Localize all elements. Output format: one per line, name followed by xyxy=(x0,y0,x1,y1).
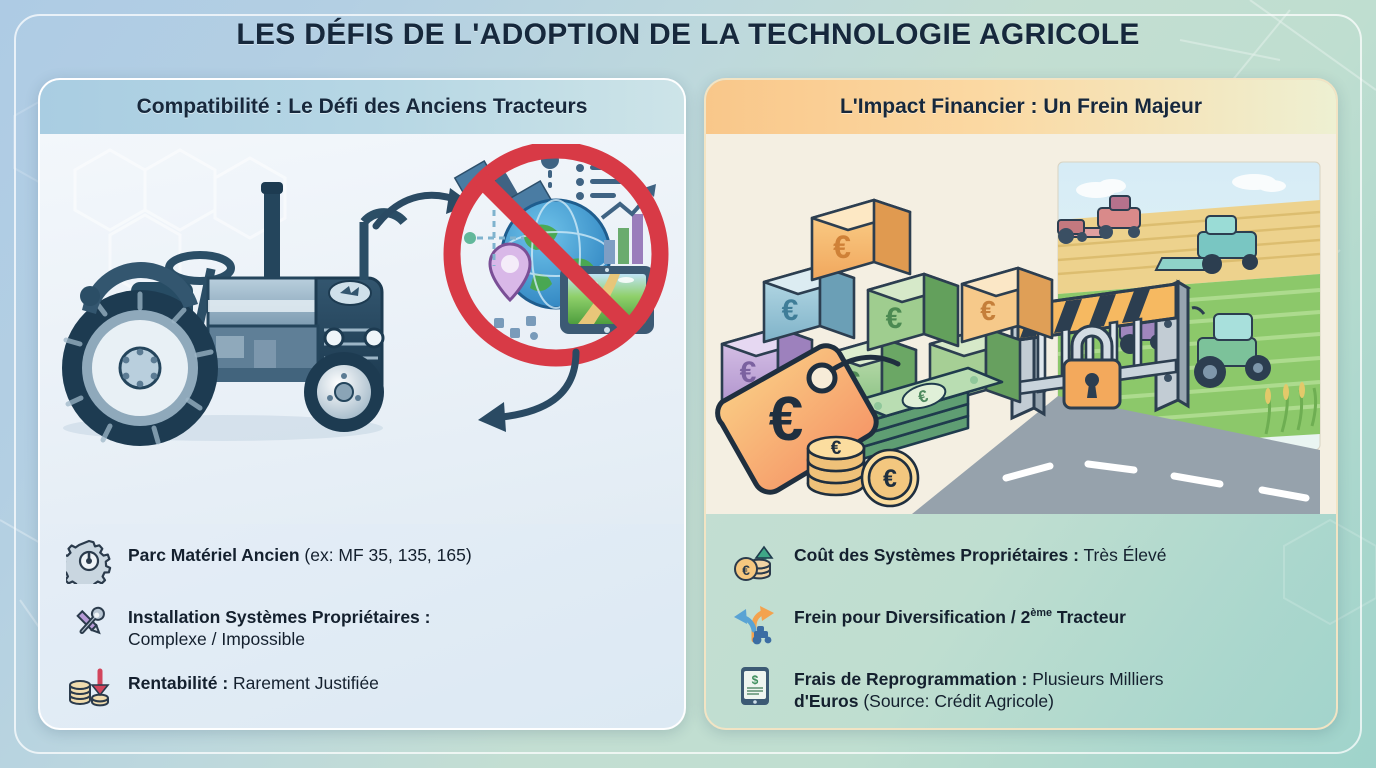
illustration-cost-barrier-blocking-modern-farm: € € xyxy=(706,134,1336,514)
vintage-tractor-illustration xyxy=(48,160,408,460)
list-item-bold: Installation Systèmes Propriétaires : xyxy=(128,607,430,627)
list-item: € Coût des Systèmes Propriétaires : Très… xyxy=(732,538,1310,584)
page-title: LES DÉFIS DE L'ADOPTION DE LA TECHNOLOGI… xyxy=(0,18,1376,52)
list-item-regular: Plusieurs Milliers xyxy=(1027,669,1163,689)
coins-down-arrow-icon xyxy=(66,666,112,712)
panel-impact-financier-header: L'Impact Financier : Un Frein Majeur xyxy=(706,80,1336,134)
list-item-bold: Rentabilité : xyxy=(128,673,228,693)
svg-text:€: € xyxy=(782,294,799,327)
svg-text:€: € xyxy=(742,562,750,578)
list-item: Rentabilité : Rarement Justifiée xyxy=(66,666,658,712)
tractor-red-small xyxy=(1058,220,1087,244)
list-item-bold: Coût des Systèmes Propriétaires : xyxy=(794,545,1079,565)
wrench-screwdriver-icon xyxy=(66,600,112,646)
list-item-line2: Complexe / Impossible xyxy=(128,629,305,649)
panel-impact-financier-bullets: € Coût des Systèmes Propriétaires : Très… xyxy=(706,534,1336,730)
svg-text:€: € xyxy=(831,438,842,459)
svg-text:€: € xyxy=(769,385,803,454)
list-item-label: Frais de Reprogrammation : Plusieurs Mil… xyxy=(794,662,1164,712)
list-item-superscript: ème xyxy=(1030,607,1052,619)
list-item-label: Parc Matériel Ancien (ex: MF 35, 135, 16… xyxy=(128,538,472,566)
svg-text:€: € xyxy=(980,295,996,326)
panel-compatibilite-bullets: Parc Matériel Ancien (ex: MF 35, 135, 16… xyxy=(40,534,684,730)
list-item-bold: Parc Matériel Ancien xyxy=(128,545,300,565)
list-item-regular: Rarement Justifiée xyxy=(228,673,379,693)
list-item-regular: Très Élevé xyxy=(1079,545,1167,565)
panel-compatibilite-header: Compatibilité : Le Défi des Anciens Trac… xyxy=(40,80,684,134)
list-item-label: Installation Systèmes Propriétaires : Co… xyxy=(128,600,430,650)
illustration-vintage-tractor-vs-technology xyxy=(40,134,684,524)
list-item-label: Rentabilité : Rarement Justifiée xyxy=(128,666,379,694)
list-item-label: Frein pour Diversification / 2ème Tracte… xyxy=(794,600,1126,628)
list-item: Parc Matériel Ancien (ex: MF 35, 135, 16… xyxy=(66,538,658,584)
panel-compatibilite: Compatibilité : Le Défi des Anciens Trac… xyxy=(38,78,686,730)
list-item: Frein pour Diversification / 2ème Tracte… xyxy=(732,600,1310,646)
tablet-invoice-icon: $ xyxy=(732,662,778,708)
list-item-bold: Frais de Reprogrammation : xyxy=(794,669,1027,689)
panel-impact-financier: L'Impact Financier : Un Frein Majeur xyxy=(704,78,1338,730)
svg-text:€: € xyxy=(833,229,851,265)
list-item-label: Coût des Systèmes Propriétaires : Très É… xyxy=(794,538,1167,566)
coins-up-arrow-euro-icon: € xyxy=(732,538,778,584)
list-item: $ Frais de Reprogrammation : Plusieurs M… xyxy=(732,662,1310,712)
svg-text:$: $ xyxy=(752,673,759,687)
list-item-line2-regular: (Source: Crédit Agricole) xyxy=(858,691,1054,711)
svg-text:€: € xyxy=(883,465,897,493)
list-item-regular: (ex: MF 35, 135, 165) xyxy=(300,545,472,565)
list-item: Installation Systèmes Propriétaires : Co… xyxy=(66,600,658,650)
diverging-arrows-tractor-icon xyxy=(732,600,778,646)
list-item-bold: Frein pour Diversification / 2 xyxy=(794,607,1030,627)
list-item-bold-after: Tracteur xyxy=(1052,607,1126,627)
financial-barrier-scene: € € xyxy=(706,134,1336,514)
list-item-line2-bold: d'Euros xyxy=(794,691,858,711)
arrow-bottom-icon xyxy=(458,344,588,434)
gear-icon xyxy=(66,538,112,584)
svg-text:€: € xyxy=(886,302,903,335)
